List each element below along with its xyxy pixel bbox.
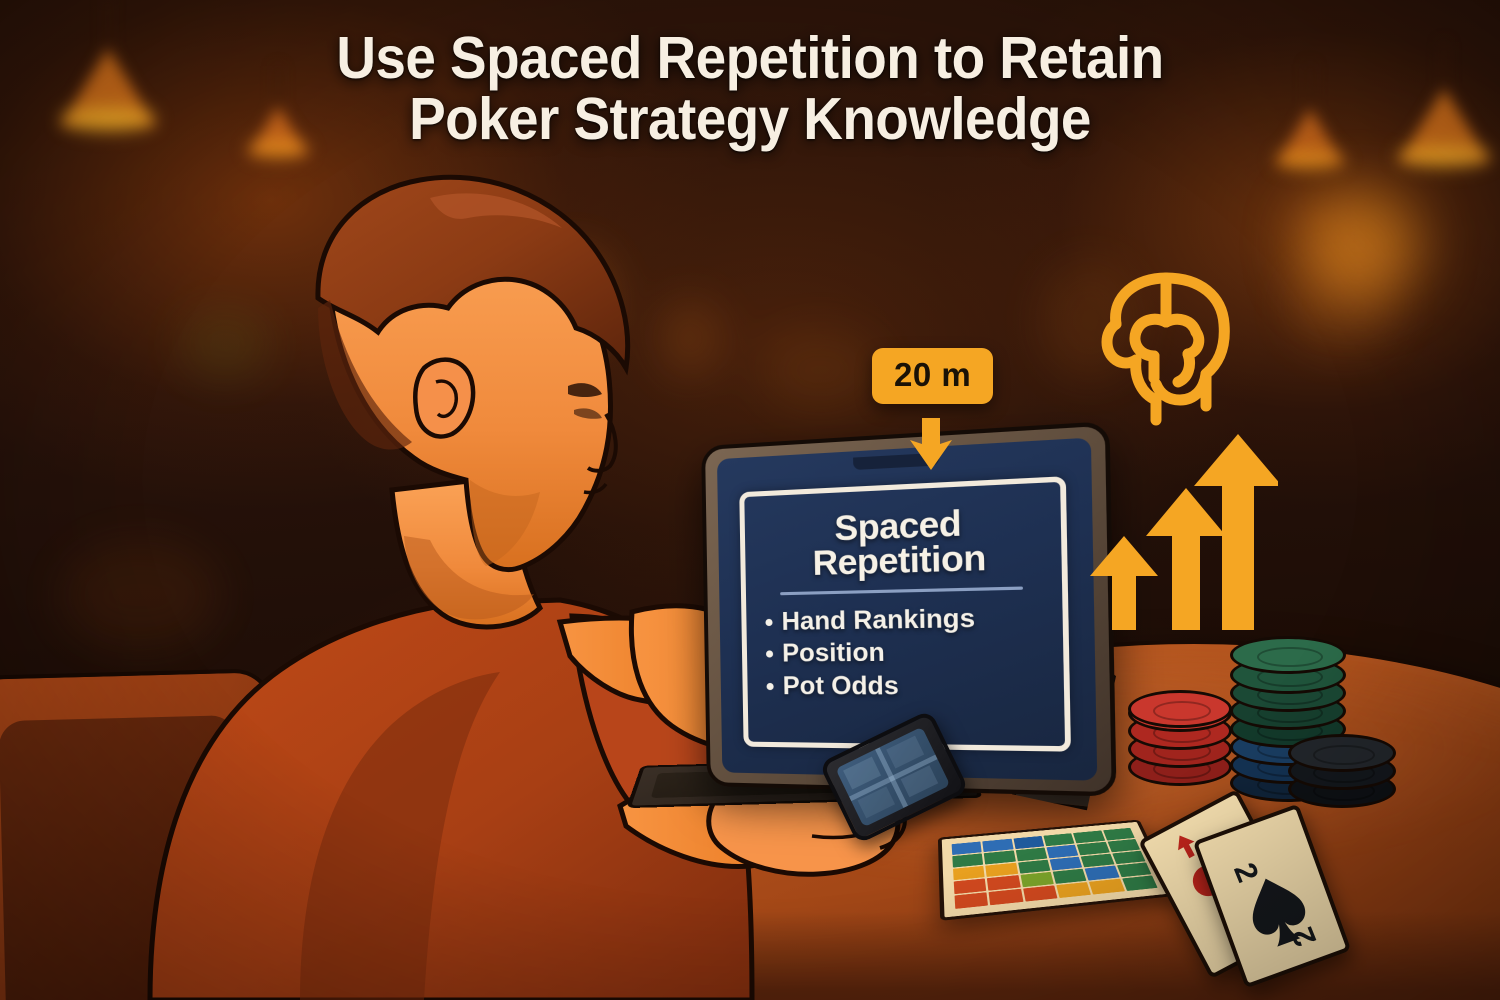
range-cell	[1015, 847, 1047, 861]
tablet-heading: Spaced Repetition	[812, 506, 986, 582]
timer-badge[interactable]: 20 m	[872, 348, 993, 404]
arrow-small	[1090, 536, 1158, 630]
range-cell	[1089, 879, 1124, 895]
illustration-canvas: Use Spaced Repetition to Retain Poker St…	[0, 0, 1500, 1000]
chip-stack-black[interactable]	[1288, 734, 1396, 810]
ear	[415, 360, 473, 437]
heading-divider	[781, 586, 1023, 595]
arrow-medium	[1146, 488, 1226, 630]
range-cell	[1056, 882, 1091, 898]
range-cell	[1046, 845, 1078, 859]
tablet-heading-line-2: Repetition	[812, 542, 986, 582]
brain-icon	[1082, 266, 1252, 426]
card-rank-top: 2	[1227, 858, 1266, 887]
topic-list: Hand Rankings Position Pot Odds	[765, 602, 976, 703]
card-rank-bottom: 2	[1284, 922, 1323, 951]
list-item[interactable]: Pot Odds	[766, 670, 976, 704]
range-cell	[952, 853, 983, 867]
range-cell	[955, 892, 989, 909]
range-cell	[1023, 886, 1058, 902]
range-cell	[989, 889, 1023, 905]
range-cell	[1077, 842, 1109, 855]
range-grid	[952, 828, 1158, 909]
range-cell	[984, 850, 1015, 864]
list-item[interactable]: Position	[766, 636, 976, 671]
list-item[interactable]: Hand Rankings	[765, 602, 975, 638]
down-arrow-icon	[908, 418, 954, 470]
range-cell	[1122, 876, 1158, 891]
growth-arrows-icon	[1078, 430, 1278, 630]
chip-stack-red[interactable]	[1128, 690, 1232, 786]
range-cell	[1107, 839, 1140, 852]
